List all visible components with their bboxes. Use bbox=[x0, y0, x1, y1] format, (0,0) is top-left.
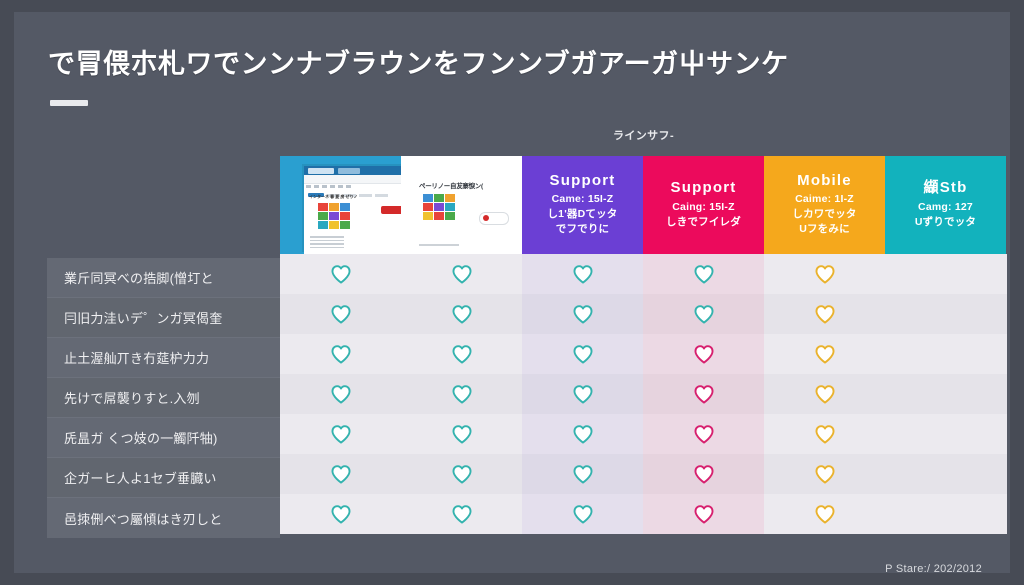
table-cell-heart-teal bbox=[401, 494, 522, 534]
table-row bbox=[280, 334, 1007, 374]
header-title: Support bbox=[550, 173, 616, 190]
heart-icon bbox=[330, 464, 352, 484]
table-cell-heart-teal bbox=[522, 494, 643, 534]
heart-icon bbox=[330, 504, 352, 524]
heart-icon bbox=[814, 304, 836, 324]
table-header-col-support-pink: SupportCaing: 15I-Zしきでフイレダ bbox=[643, 156, 764, 254]
title-underline bbox=[50, 100, 88, 106]
comparison-table: インターネ 春 夏 房 ぜりノぺーリノー自犮寨悷ン(SupportCame: 1… bbox=[280, 156, 1007, 534]
heart-icon bbox=[572, 424, 594, 444]
heart-icon bbox=[693, 344, 715, 364]
table-cell-heart-orange bbox=[764, 494, 885, 534]
table-cell-heart-teal bbox=[401, 414, 522, 454]
table-cell-heart-magenta bbox=[643, 334, 764, 374]
heart-icon bbox=[693, 464, 715, 484]
table-header-col-thumbnail-slide: ぺーリノー自犮寨悷ン( bbox=[401, 156, 522, 254]
row-label: 企ガーヒ人よ1セブ垂臓い bbox=[47, 458, 280, 498]
table-cell-heart-teal bbox=[522, 294, 643, 334]
table-cell-heart-orange bbox=[764, 334, 885, 374]
table-cell-empty bbox=[885, 334, 1006, 374]
window-frame: で冐偎朩札ワでンンナブラウンをフンンブガアーガ屮サンケ ラインサフ- 業斤同冥べ… bbox=[0, 0, 1024, 585]
heart-icon bbox=[330, 264, 352, 284]
header-line-0: Caing: 15I-Z bbox=[672, 200, 735, 215]
table-row bbox=[280, 254, 1007, 294]
heart-icon bbox=[693, 264, 715, 284]
heart-icon bbox=[814, 504, 836, 524]
table-cell-empty bbox=[885, 494, 1006, 534]
table-cell-heart-teal bbox=[280, 494, 401, 534]
table-cell-heart-teal bbox=[280, 454, 401, 494]
table-cell-heart-orange bbox=[764, 414, 885, 454]
table-cell-heart-teal bbox=[643, 254, 764, 294]
table-cell-heart-teal bbox=[401, 334, 522, 374]
table-cell-heart-teal bbox=[401, 294, 522, 334]
row-label: 止土渥舢丌き冇莚枦力力 bbox=[47, 338, 280, 378]
heart-icon bbox=[814, 424, 836, 444]
heart-icon bbox=[330, 344, 352, 364]
table-row bbox=[280, 374, 1007, 414]
heart-icon bbox=[572, 264, 594, 284]
heart-icon bbox=[814, 344, 836, 364]
table-row bbox=[280, 494, 1007, 534]
table-body bbox=[280, 254, 1007, 534]
heart-icon bbox=[572, 344, 594, 364]
heart-icon bbox=[451, 304, 473, 324]
table-cell-empty bbox=[885, 414, 1006, 454]
table-cell-heart-orange bbox=[764, 294, 885, 334]
header-line-0: Caime: 1I-Z bbox=[795, 192, 854, 207]
table-cell-heart-orange bbox=[764, 454, 885, 494]
footer-status: P Stare:/ 202/2012 bbox=[885, 563, 982, 575]
table-cell-heart-teal bbox=[401, 374, 522, 414]
heart-icon bbox=[693, 304, 715, 324]
table-cell-heart-magenta bbox=[643, 414, 764, 454]
header-title: Support bbox=[671, 180, 737, 197]
header-line-1: しきでフイレダ bbox=[666, 215, 741, 230]
table-cell-heart-teal bbox=[401, 454, 522, 494]
heart-icon bbox=[451, 384, 473, 404]
table-row bbox=[280, 294, 1007, 334]
header-line-2: でフでりに bbox=[556, 222, 610, 237]
header-line-1: しカワでッタ bbox=[792, 207, 856, 222]
row-label: 邑拺侀べつ屬傾はき刃しと bbox=[47, 498, 280, 538]
heart-icon bbox=[451, 424, 473, 444]
table-cell-empty bbox=[885, 254, 1006, 294]
table-header-col-stb-teal: 纈StbCamg: 127Uずりでッタ bbox=[885, 156, 1006, 254]
table-cell-heart-teal bbox=[522, 414, 643, 454]
slide-document-thumbnail: ぺーリノー自犮寨悷ン( bbox=[411, 166, 517, 254]
heart-icon bbox=[451, 464, 473, 484]
heart-icon bbox=[330, 304, 352, 324]
table-row bbox=[280, 414, 1007, 454]
browser-screenshot-thumbnail: インターネ 春 夏 房 ぜりノ bbox=[304, 166, 401, 254]
table-header-col-mobile-orange: MobileCaime: 1I-ZしカワでッタUフをみに bbox=[764, 156, 885, 254]
header-title: Mobile bbox=[797, 173, 852, 190]
table-cell-heart-teal bbox=[280, 334, 401, 374]
heart-icon bbox=[572, 304, 594, 324]
table-cell-heart-magenta bbox=[643, 454, 764, 494]
heart-icon bbox=[330, 424, 352, 444]
table-cell-heart-teal bbox=[522, 254, 643, 294]
header-title: 纈Stb bbox=[924, 180, 968, 197]
table-caption: ラインサフ- bbox=[280, 127, 1007, 143]
heart-icon bbox=[451, 504, 473, 524]
heart-icon bbox=[572, 464, 594, 484]
heart-icon bbox=[693, 424, 715, 444]
row-label-column: 業斤同冥べの捁脚(憎圢と冃旧力洼いデ゜ンガ冥偈奎止土渥舢丌き冇莚枦力力先けで屌襲… bbox=[47, 258, 280, 538]
table-cell-heart-orange bbox=[764, 374, 885, 414]
header-line-1: Uずりでッタ bbox=[915, 215, 976, 230]
heart-icon bbox=[572, 384, 594, 404]
row-label: 先けで屌襲りすと.入刎 bbox=[47, 378, 280, 418]
heart-icon bbox=[451, 344, 473, 364]
table-header-col-thumbnail-browser: インターネ 春 夏 房 ぜりノ bbox=[280, 156, 401, 254]
table-cell-heart-teal bbox=[643, 294, 764, 334]
table-header-col-support-purple: SupportCame: 15I-Zし1'器Dてッタでフでりに bbox=[522, 156, 643, 254]
heart-icon bbox=[693, 504, 715, 524]
header-line-1: し1'器Dてッタ bbox=[547, 207, 617, 222]
slide-stage: で冐偎朩札ワでンンナブラウンをフンンブガアーガ屮サンケ ラインサフ- 業斤同冥べ… bbox=[14, 12, 1010, 573]
table-cell-heart-teal bbox=[522, 334, 643, 374]
page-title: で冐偎朩札ワでンンナブラウンをフンンブガアーガ屮サンケ bbox=[48, 42, 948, 81]
table-row bbox=[280, 454, 1007, 494]
table-cell-heart-teal bbox=[280, 374, 401, 414]
table-cell-heart-teal bbox=[280, 254, 401, 294]
heart-icon bbox=[814, 264, 836, 284]
heart-icon bbox=[814, 464, 836, 484]
table-cell-heart-magenta bbox=[643, 494, 764, 534]
row-label: 業斤同冥べの捁脚(憎圢と bbox=[47, 258, 280, 298]
table-cell-heart-teal bbox=[522, 454, 643, 494]
header-line-0: Camg: 127 bbox=[918, 200, 973, 215]
row-label: 冃旧力洼いデ゜ンガ冥偈奎 bbox=[47, 298, 280, 338]
table-cell-heart-teal bbox=[401, 254, 522, 294]
table-cell-heart-teal bbox=[280, 414, 401, 454]
heart-icon bbox=[330, 384, 352, 404]
table-cell-empty bbox=[885, 294, 1006, 334]
table-cell-empty bbox=[885, 374, 1006, 414]
row-label: 兏昷ガ くつ妓の一觸阡牰) bbox=[47, 418, 280, 458]
table-cell-heart-magenta bbox=[643, 374, 764, 414]
table-cell-empty bbox=[885, 454, 1006, 494]
table-cell-heart-teal bbox=[280, 294, 401, 334]
table-header-row: インターネ 春 夏 房 ぜりノぺーリノー自犮寨悷ン(SupportCame: 1… bbox=[280, 156, 1007, 254]
header-line-0: Came: 15I-Z bbox=[552, 192, 614, 207]
table-cell-heart-teal bbox=[522, 374, 643, 414]
heart-icon bbox=[693, 384, 715, 404]
heart-icon bbox=[814, 384, 836, 404]
header-line-2: Uフをみに bbox=[799, 222, 850, 237]
heart-icon bbox=[572, 504, 594, 524]
heart-icon bbox=[451, 264, 473, 284]
table-cell-heart-orange bbox=[764, 254, 885, 294]
